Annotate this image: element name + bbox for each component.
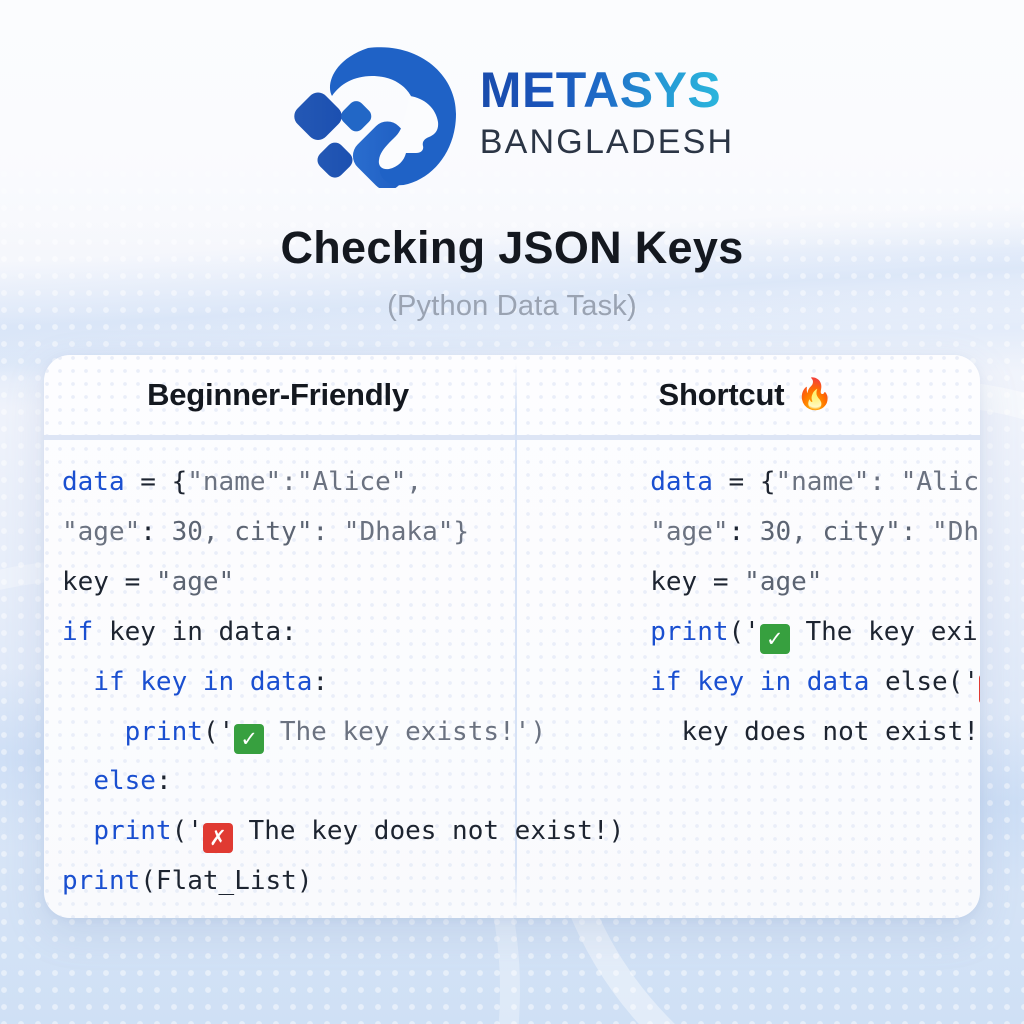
code-token: The key exists!' [790,617,980,647]
code-token: else(' [869,667,979,697]
code-token: if [62,617,93,647]
brand-subtitle: BANGLADESH [480,125,734,159]
code-line: key does not exist!!) [650,708,980,758]
code-line: "age": 30, city": "Dhaka"} [650,508,980,558]
check-icon: ✓ [760,624,790,654]
code-token: (' [729,617,760,647]
check-icon: ✓ [234,724,264,754]
column-header-left: Beginner-Friendly [44,355,512,435]
code-token: The key does not exist!) [233,816,624,846]
code-token: "age" [650,517,728,547]
code-token [62,667,93,697]
code-token: "name":"Alice", [187,467,422,497]
code-token: city": [234,517,344,547]
code-token: "age" [744,567,822,597]
metasys-head-logo-icon [290,36,462,188]
code-token: "age" [62,517,140,547]
code-line: else: [62,757,624,807]
code-token: print [650,617,728,647]
code-line: print('✗ The key does not exist!) [62,807,624,857]
brand-title: METASYS [480,65,722,115]
code-token: data [650,467,713,497]
code-token: "age" [156,567,234,597]
code-token: : [312,667,328,697]
code-line: "age": 30, city": "Dhaka"} [62,508,624,558]
beginner-friendly-label: Beginner-Friendly [147,377,409,413]
code-line: data = {"name": "Alice", [650,458,980,508]
code-column-left: data = {"name":"Alice","age": 30, city":… [44,440,628,918]
code-token [62,816,93,846]
page-title: Checking JSON Keys [0,222,1024,274]
code-token: print [93,816,171,846]
code-token [62,766,93,796]
code-token: : [156,766,172,796]
code-token: The key exists!') [264,717,546,747]
code-line: if key in data: [62,608,624,658]
code-token: 30, [760,517,823,547]
code-line: if key in data: [62,658,624,708]
code-token: key in data: [93,617,297,647]
code-token: else [93,766,156,796]
fire-icon: 🔥 [796,380,833,410]
code-columns: data = {"name":"Alice","age": 30, city":… [44,440,980,918]
code-token: if key in data [650,667,869,697]
brand-header: METASYS BANGLADESH [0,36,1024,188]
cross-icon: ✗ [979,674,980,704]
code-token: "Dhaka"} [932,517,980,547]
code-line: key = "age" [650,558,980,608]
code-token: print [62,866,140,896]
code-token: key = [650,567,744,597]
code-line: if key in data else('✗ The [650,658,980,708]
code-token: (' [203,717,234,747]
code-line: print('✓ The key exists!') [62,708,624,758]
code-token: = { [125,467,188,497]
code-block-shortcut: data = {"name": "Alice","age": 30, city"… [650,458,980,757]
code-line: key = "age" [62,558,624,608]
code-token: "name": "Alice", [776,467,981,497]
code-token: city": [822,517,932,547]
code-token: key does not exist!!) [650,717,980,747]
code-column-right: data = {"name": "Alice","age": 30, city"… [628,440,980,918]
comparison-card: Beginner-Friendly Shortcut 🔥 data = {"na… [44,355,980,918]
shortcut-label: Shortcut [659,377,785,413]
brand-lockup: METASYS BANGLADESH [290,36,734,188]
code-line: data = {"name":"Alice", [62,458,624,508]
card-headings: Beginner-Friendly Shortcut 🔥 [44,355,980,435]
code-line: print(Flat_List) [62,857,624,907]
code-token: key = [62,567,156,597]
code-token: "Dhaka"} [344,517,469,547]
brand-text: METASYS BANGLADESH [480,65,734,159]
code-token: (Flat_List) [140,866,312,896]
code-block-beginner: data = {"name":"Alice","age": 30, city":… [62,458,624,907]
code-line: print('✓ The key exists!' [650,608,980,658]
code-token: if key in data [93,667,312,697]
code-token: (' [172,816,203,846]
code-token: : [140,517,171,547]
title-block: Checking JSON Keys (Python Data Task) [0,222,1024,323]
cross-icon: ✗ [203,823,233,853]
code-token [62,717,125,747]
page-subtitle: (Python Data Task) [0,290,1024,323]
code-token: : [729,517,760,547]
code-token: print [125,717,203,747]
code-token: 30, [172,517,235,547]
code-token: data [62,467,125,497]
code-token: = { [713,467,776,497]
column-header-right: Shortcut 🔥 [512,355,980,435]
